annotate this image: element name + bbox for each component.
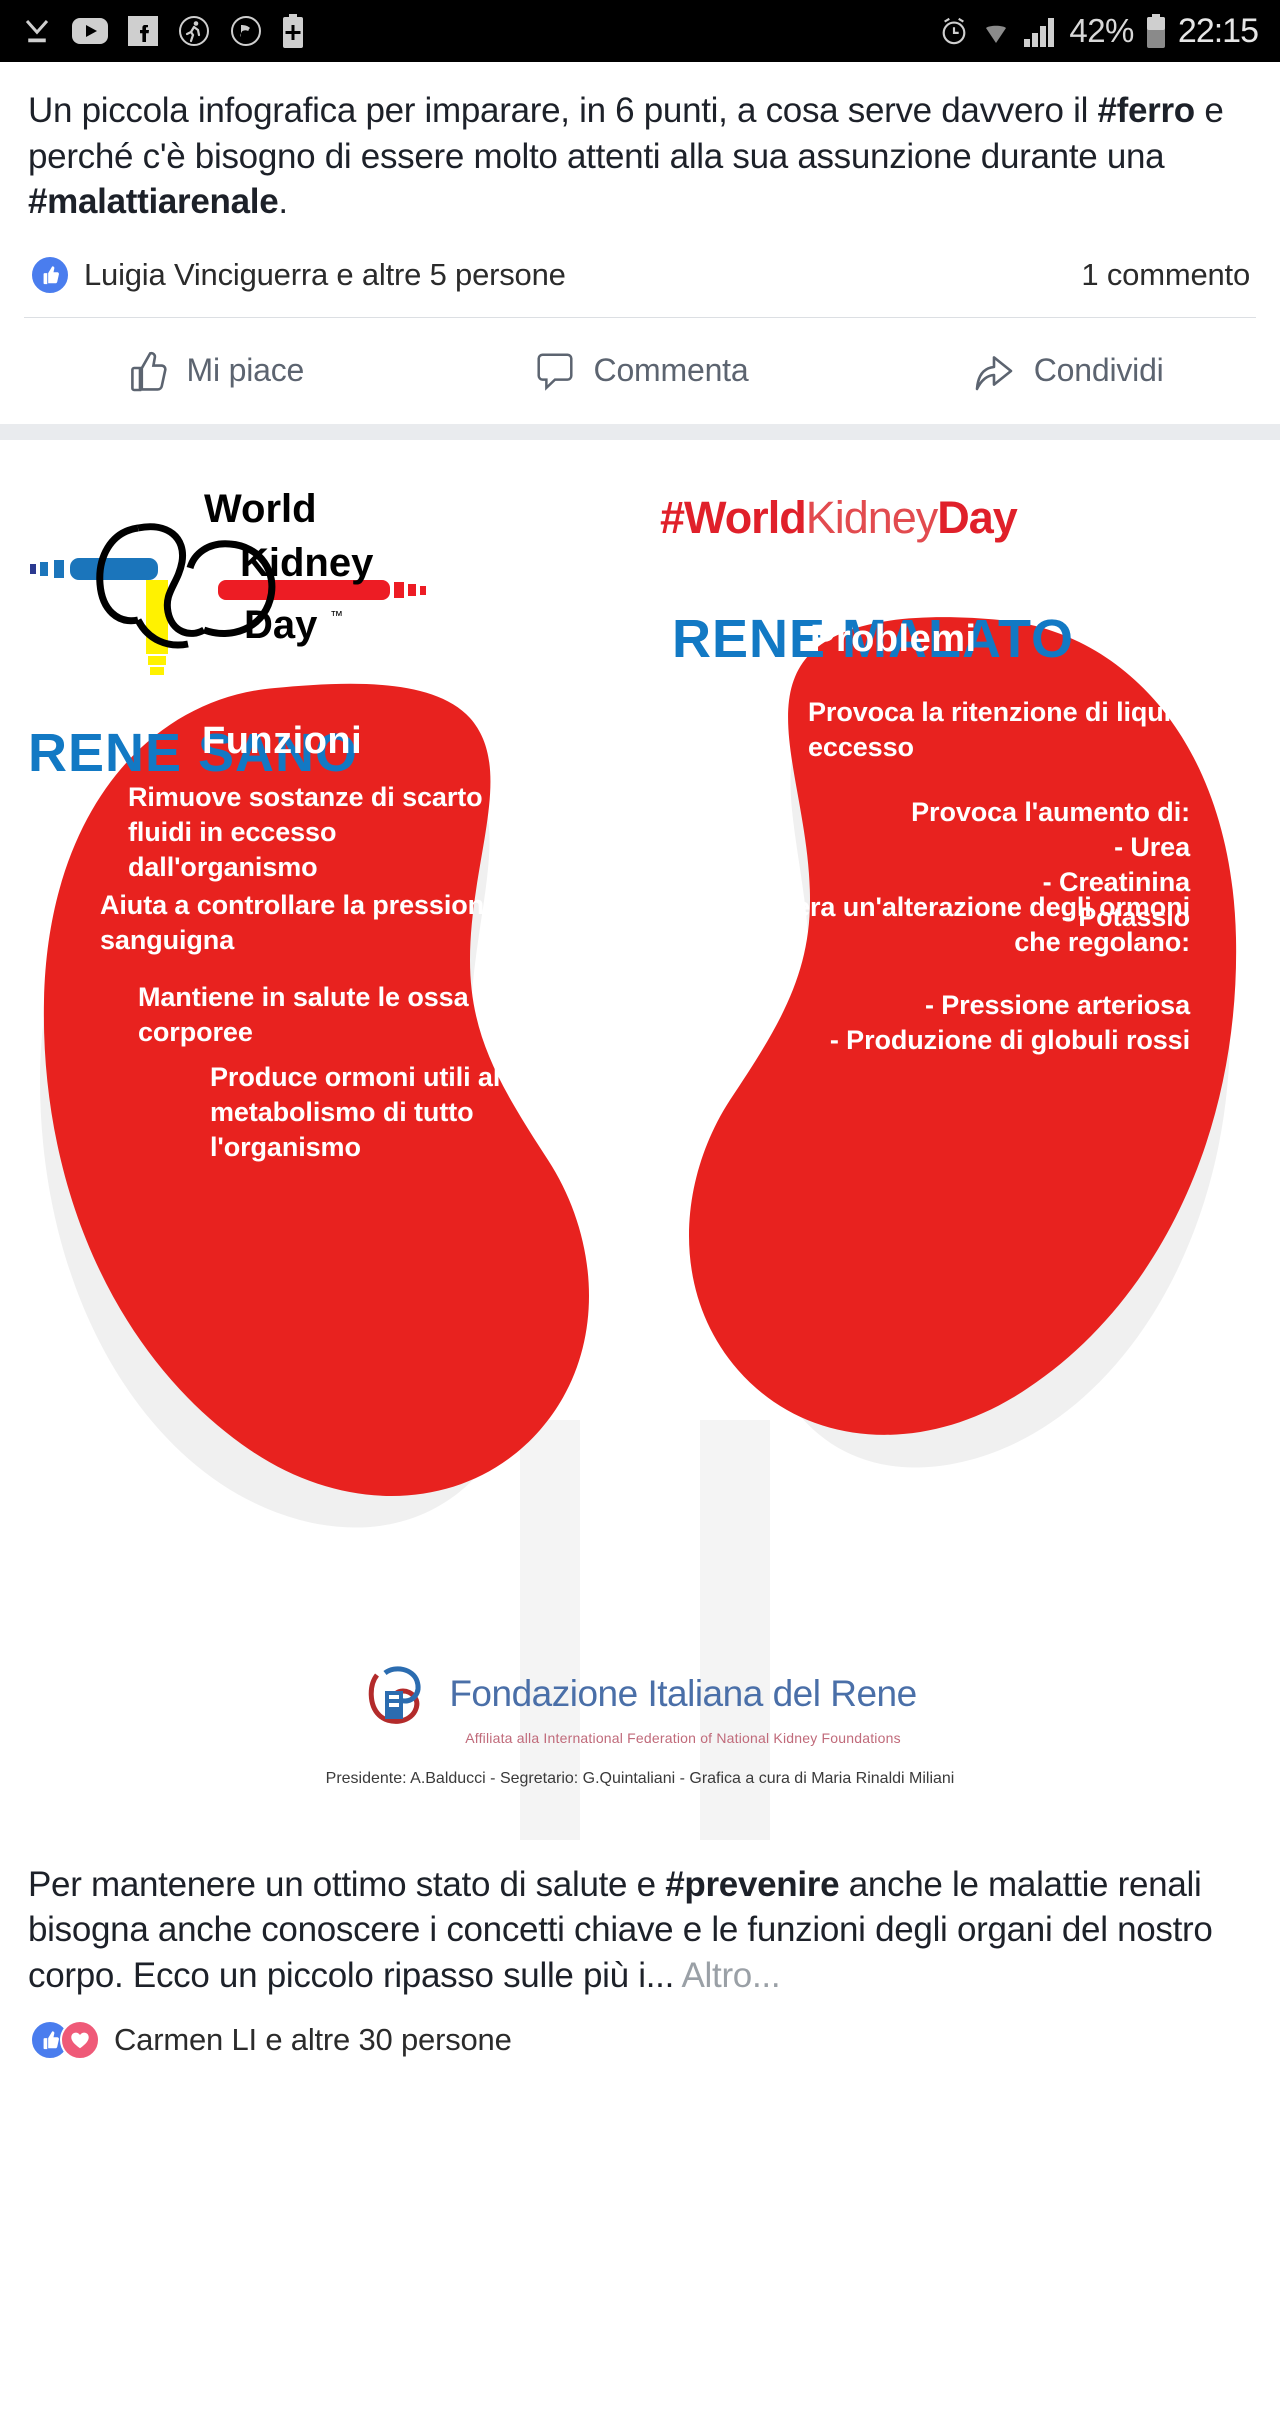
post-1-text: Un piccola infografica per imparare, in …	[28, 88, 1252, 225]
alarm-clock-icon	[939, 15, 969, 47]
healthy-kidney-item-3: Mantiene in salute le ossa corporee	[138, 980, 538, 1050]
post-1-reactions-label[interactable]: Luigia Vinciguerra e altre 5 persone	[84, 257, 566, 293]
hashtag-worldkidneyday: #WorldKidneyDay	[660, 492, 1017, 544]
post-1-reaction-pills[interactable]	[30, 255, 70, 295]
download-icon	[22, 15, 52, 47]
foundation-footer: Fondazione Italiana del Rene Affiliata a…	[0, 1655, 1280, 1788]
wifi-icon	[981, 16, 1011, 46]
battery-icon	[1146, 14, 1166, 48]
post-2-reactions-label[interactable]: Carmen LI e altre 30 persone	[114, 2022, 512, 2058]
post-2-reaction-pills[interactable]	[30, 2020, 100, 2060]
post-2-text: Per mantenere un ottimo stato di salute …	[28, 1862, 1252, 1999]
hashtag-word-kidney: Kidney	[806, 492, 938, 543]
fir-kidney-logo-icon	[363, 1655, 437, 1734]
thumbs-up-icon	[123, 347, 171, 395]
share-button[interactable]: Condividi	[853, 347, 1280, 395]
logo-yellow-bar	[146, 580, 168, 675]
status-bar-left-icons	[22, 14, 304, 48]
post-2-meta-row: Carmen LI e altre 30 persone	[0, 1998, 1280, 2060]
signal-bars-icon	[1023, 15, 1057, 47]
hashtag-word-day: Day	[937, 492, 1017, 543]
healthy-kidney-item-1: Rimuove sostanze di scarto e fluidi in e…	[128, 780, 518, 885]
phone-screen: 42% 22:15 Un piccola infografica per imp…	[0, 0, 1280, 2411]
logo-word-world: World	[204, 487, 317, 531]
see-more-link[interactable]: Altro...	[682, 1956, 781, 1995]
sick-kidney-title: Problemi	[810, 618, 977, 661]
foundation-name-row: Fondazione Italiana del Rene	[363, 1655, 916, 1734]
post-1-comments-label[interactable]: 1 commento	[1081, 257, 1250, 293]
post-2-hashtag-prevenire[interactable]: #prevenire	[665, 1865, 839, 1904]
logo-word-day: Day	[244, 603, 318, 647]
clock-label: 22:15	[1178, 12, 1258, 51]
sick-kidney-item-3: Genera un'alterazione degli ormoni che r…	[720, 890, 1190, 960]
healthy-kidney-item-2: Aiuta a controllare la pressione sanguig…	[100, 888, 500, 958]
share-button-label: Condividi	[1034, 352, 1164, 389]
share-arrow-icon	[970, 347, 1018, 395]
world-kidney-day-logo: World Kidney Day ™	[18, 480, 498, 680]
healthy-kidney-item-4: Produce ormoni utili al metabolismo di t…	[210, 1060, 560, 1165]
post-1-action-row: Mi piace Commenta Condividi	[0, 318, 1280, 424]
running-person-icon	[178, 15, 210, 47]
sick-kidney-item-1: Provoca la ritenzione di liquidi in ecce…	[808, 695, 1228, 765]
battery-percent-label: 42%	[1069, 12, 1134, 50]
like-button[interactable]: Mi piace	[0, 347, 427, 395]
logo-trademark: ™	[330, 608, 343, 623]
comment-button-label: Commenta	[594, 352, 749, 389]
post-1-text-part3: .	[278, 182, 287, 221]
post-1-text-part1: Un piccola infografica per imparare, in …	[28, 91, 1097, 130]
comment-bubble-icon	[532, 348, 578, 394]
post-1-meta-row: Luigia Vinciguerra e altre 5 persone 1 c…	[0, 225, 1280, 317]
post-2-body: Per mantenere un ottimo stato di salute …	[0, 1840, 1280, 1999]
like-button-label: Mi piace	[187, 352, 305, 389]
foundation-name: Fondazione Italiana del Rene	[449, 1673, 916, 1715]
battery-saver-icon	[282, 14, 304, 48]
foundation-credits: Presidente: A.Balducci - Segretario: G.Q…	[326, 1770, 955, 1788]
post-1-hashtag-malattiarenale[interactable]: #malattiarenale	[28, 182, 278, 221]
like-reaction-icon	[30, 255, 70, 295]
healthy-kidney-title: Funzioni	[202, 720, 362, 763]
love-reaction-icon	[60, 2020, 100, 2060]
youtube-icon	[72, 18, 108, 44]
status-bar: 42% 22:15	[0, 0, 1280, 62]
phone-call-icon	[230, 15, 262, 47]
hashtag-word-world: World	[684, 492, 806, 543]
comment-button[interactable]: Commenta	[427, 348, 854, 394]
feed-separator	[0, 424, 1280, 440]
hashtag-symbol: #	[660, 492, 684, 543]
sick-kidney-item-4: - Pressione arteriosa - Produzione di gl…	[700, 988, 1190, 1058]
facebook-icon	[128, 16, 158, 46]
post-1-body: Un piccola infografica per imparare, in …	[0, 62, 1280, 225]
logo-blue-bar	[30, 558, 158, 580]
infographic-image[interactable]: World Kidney Day ™ #WorldKidneyDay RENE …	[0, 440, 1280, 1840]
status-bar-right-icons: 42% 22:15	[939, 12, 1258, 51]
logo-word-kidney: Kidney	[240, 541, 374, 585]
foundation-affiliation: Affiliata alla International Federation …	[465, 1730, 901, 1746]
post-2-text-part1: Per mantenere un ottimo stato di salute …	[28, 1865, 665, 1904]
post-1-hashtag-ferro[interactable]: #ferro	[1097, 91, 1194, 130]
